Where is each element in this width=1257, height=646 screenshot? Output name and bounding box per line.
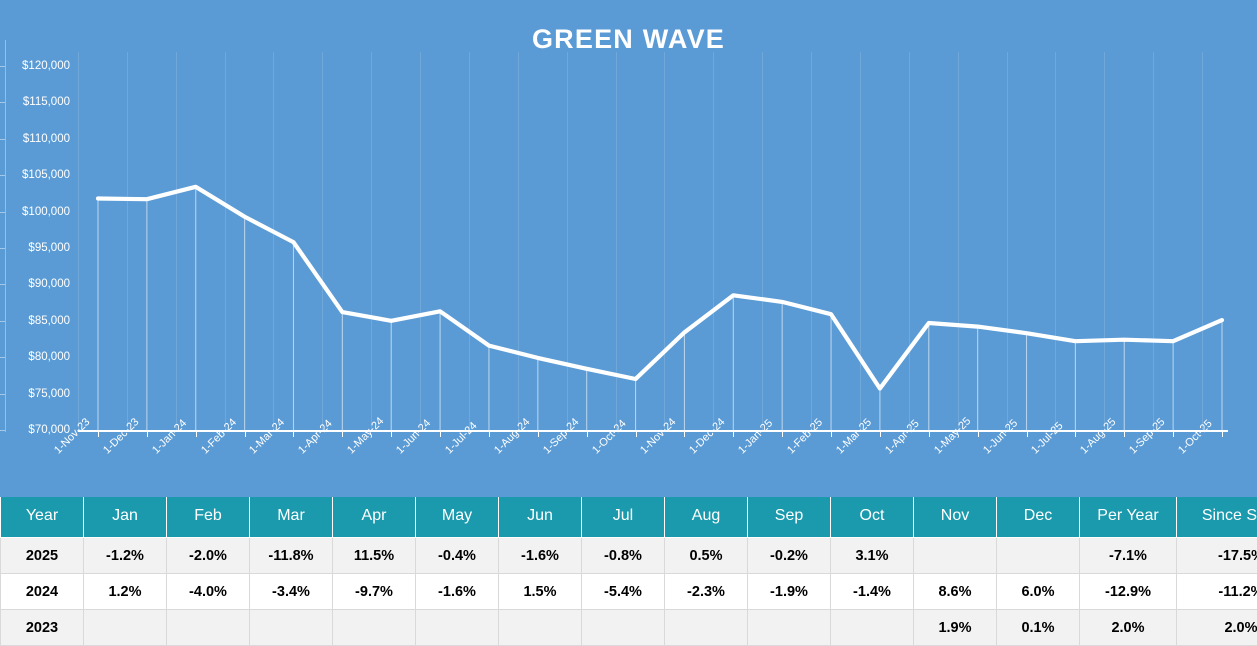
vertical-gridline <box>1007 52 1008 430</box>
vertical-gridline <box>664 52 665 430</box>
x-axis-tick-mark <box>733 430 734 437</box>
table-column-header[interactable]: Apr <box>333 495 416 538</box>
x-axis-tick-label: 1-Jul-24 <box>443 420 480 457</box>
table-column-header[interactable]: Year <box>1 495 84 538</box>
y-axis-tick-label: $95,000 <box>8 242 70 254</box>
x-axis-tick-label: 1-Feb-24 <box>199 416 239 456</box>
vertical-gridline <box>1055 52 1056 430</box>
table-cell-value: 8.6% <box>914 574 997 610</box>
table-cell-value: -9.7% <box>333 574 416 610</box>
vertical-gridline <box>616 52 617 430</box>
table-cell-value <box>582 610 665 646</box>
x-axis-tick-mark <box>1124 430 1125 437</box>
series-polyline <box>98 187 1222 389</box>
table-cell-value <box>748 610 831 646</box>
y-axis-tick-mark <box>0 321 5 322</box>
table-cell-value <box>333 610 416 646</box>
x-axis-tick-label: 1-Sep-25 <box>1127 416 1167 456</box>
y-axis-tick-label: $85,000 <box>8 315 70 327</box>
vertical-gridline <box>762 52 763 430</box>
y-axis-tick-label: $80,000 <box>8 351 70 363</box>
table-cell-value <box>665 610 748 646</box>
table-cell-value: -1.9% <box>748 574 831 610</box>
table-cell-value: -12.9% <box>1080 574 1177 610</box>
y-axis-tick-mark <box>0 248 5 249</box>
x-axis-tick-label: 1-Apr-25 <box>883 418 922 457</box>
table-cell-value <box>997 538 1080 574</box>
x-axis-tick-mark <box>147 430 148 437</box>
table-cell-value: 1.2% <box>84 574 167 610</box>
table-cell-value: -17.5% <box>1177 538 1257 574</box>
table-cell-value: -7.1% <box>1080 538 1177 574</box>
vertical-gridline <box>322 52 323 430</box>
x-axis-tick-label: 1-Oct-24 <box>590 418 629 457</box>
y-axis-tick-mark <box>0 139 5 140</box>
table-column-header[interactable]: Aug <box>665 495 748 538</box>
x-axis-tick-label: 1-Jul-25 <box>1029 420 1066 457</box>
table-cell-value: -2.3% <box>665 574 748 610</box>
table-cell-value: 0.1% <box>997 610 1080 646</box>
x-axis-tick-label: 1-Jun-25 <box>981 417 1020 456</box>
y-axis-tick-mark <box>0 212 5 213</box>
x-axis-tick-mark <box>929 430 930 437</box>
y-axis-tick-mark <box>0 102 5 103</box>
table-column-header[interactable]: Dec <box>997 495 1080 538</box>
x-axis-tick-mark <box>245 430 246 437</box>
table-cell-year: 2023 <box>1 610 84 646</box>
table-cell-value: -0.2% <box>748 538 831 574</box>
table-cell-value: 1.9% <box>914 610 997 646</box>
x-axis-tick-mark <box>196 430 197 437</box>
table-cell-value: -11.8% <box>250 538 333 574</box>
x-axis-tick-label: 1-May-25 <box>932 415 973 456</box>
x-axis-tick-mark <box>391 430 392 437</box>
x-axis-tick-mark <box>978 430 979 437</box>
y-axis-tick-label: $105,000 <box>8 169 70 181</box>
x-axis-tick-mark <box>684 430 685 437</box>
x-axis-tick-mark <box>538 430 539 437</box>
drop-lines <box>0 0 1257 494</box>
vertical-gridline <box>371 52 372 430</box>
y-axis-tick-label: $70,000 <box>8 424 70 436</box>
table-cell-value: 6.0% <box>997 574 1080 610</box>
x-axis-tick-mark <box>98 430 99 437</box>
x-axis-tick-mark <box>831 430 832 437</box>
x-axis-tick-label: 1-Aug-25 <box>1078 416 1118 456</box>
table-cell-value: 2.0% <box>1080 610 1177 646</box>
x-axis-tick-mark <box>1173 430 1174 437</box>
x-axis-tick-label: 1-Oct-25 <box>1176 418 1215 457</box>
x-axis-tick-label: 1-Jun-24 <box>394 417 433 456</box>
x-axis-tick-label: 1-Sep-24 <box>541 416 581 456</box>
vertical-gridline <box>225 52 226 430</box>
x-axis-tick-label: 1-Nov-24 <box>638 416 678 456</box>
x-axis-tick-mark <box>489 430 490 437</box>
table-column-header[interactable]: Nov <box>914 495 997 538</box>
table-cell-year: 2025 <box>1 538 84 574</box>
x-axis-tick-label: 1-Feb-25 <box>785 416 825 456</box>
x-axis-tick-mark <box>1075 430 1076 437</box>
vertical-gridline <box>713 52 714 430</box>
table-column-header[interactable]: May <box>416 495 499 538</box>
table-cell-value: -5.4% <box>582 574 665 610</box>
table-column-header[interactable]: Jan <box>84 495 167 538</box>
vertical-gridline <box>127 52 128 430</box>
table-cell-value: -3.4% <box>250 574 333 610</box>
x-axis-tick-label: 1-Dec-24 <box>687 416 727 456</box>
table-column-header[interactable]: Jun <box>499 495 582 538</box>
x-axis-tick-mark <box>587 430 588 437</box>
table-cell-value: 0.5% <box>665 538 748 574</box>
table-column-header[interactable]: Per Year <box>1080 495 1177 538</box>
vertical-gridline <box>958 52 959 430</box>
table-cell-value: 3.1% <box>831 538 914 574</box>
table-header-row: YearJanFebMarAprMayJunJulAugSepOctNovDec… <box>1 495 1257 538</box>
table-cell-value <box>831 610 914 646</box>
x-axis-tick-label: 1-Mar-25 <box>834 416 874 456</box>
x-axis-tick-label: 1-Aug-24 <box>492 416 532 456</box>
x-axis-tick-mark <box>782 430 783 437</box>
vertical-gridline <box>1153 52 1154 430</box>
y-axis-tick-mark <box>0 66 5 67</box>
x-axis-tick-mark <box>1222 430 1223 437</box>
table-cell-value <box>84 610 167 646</box>
table-cell-value: -1.4% <box>831 574 914 610</box>
vertical-gridline <box>909 52 910 430</box>
table-top-divider <box>0 494 1257 497</box>
y-axis-tick-mark <box>0 430 5 431</box>
x-axis-tick-label: 1-Dec-23 <box>101 416 141 456</box>
table-cell-value <box>250 610 333 646</box>
plot-area: $120,000$115,000$110,000$105,000$100,000… <box>0 0 1257 494</box>
y-axis-tick-label: $110,000 <box>8 133 70 145</box>
table-cell-value: -0.8% <box>582 538 665 574</box>
y-axis-tick-label: $75,000 <box>8 388 70 400</box>
performance-table: YearJanFebMarAprMayJunJulAugSepOctNovDec… <box>0 494 1257 646</box>
x-axis-tick-mark <box>1027 430 1028 437</box>
vertical-gridline <box>860 52 861 430</box>
x-axis-tick-label: 1-May-24 <box>345 415 386 456</box>
table-cell-value <box>499 610 582 646</box>
x-axis-tick-mark <box>636 430 637 437</box>
vertical-gridline <box>567 52 568 430</box>
table-cell-value: -11.2% <box>1177 574 1257 610</box>
vertical-gridline <box>420 52 421 430</box>
vertical-gridline <box>469 52 470 430</box>
vertical-gridline <box>273 52 274 430</box>
table-cell-value <box>914 538 997 574</box>
table-cell-value: -4.0% <box>167 574 250 610</box>
table-cell-value: -1.6% <box>499 538 582 574</box>
table-cell-value <box>167 610 250 646</box>
x-axis-tick-label: 1-Nov-23 <box>52 416 92 456</box>
x-axis-tick-mark <box>342 430 343 437</box>
y-axis-tick-label: $120,000 <box>8 60 70 72</box>
y-axis-tick-label: $100,000 <box>8 206 70 218</box>
table-column-header[interactable]: Sep <box>748 495 831 538</box>
table-column-header[interactable]: Oct <box>831 495 914 538</box>
table-row: 2025-1.2%-2.0%-11.8%11.5%-0.4%-1.6%-0.8%… <box>1 538 1257 574</box>
x-axis-tick-mark <box>440 430 441 437</box>
table-column-header[interactable]: Jul <box>582 495 665 538</box>
y-axis-tick-label: $90,000 <box>8 278 70 290</box>
table-cell-value: -2.0% <box>167 538 250 574</box>
x-axis-tick-mark <box>880 430 881 437</box>
table-cell-value: -1.2% <box>84 538 167 574</box>
vertical-gridline <box>78 52 79 430</box>
table-cell-value: 2.0% <box>1177 610 1257 646</box>
x-axis-tick-label: 1-Jan-24 <box>150 417 189 456</box>
y-axis-tick-mark <box>0 394 5 395</box>
y-axis-tick-mark <box>0 175 5 176</box>
vertical-gridline <box>1104 52 1105 430</box>
vertical-gridline <box>176 52 177 430</box>
table-column-header[interactable]: Since Start <box>1177 495 1257 538</box>
vertical-gridline <box>811 52 812 430</box>
y-axis-line <box>5 40 6 432</box>
x-axis-tick-mark <box>293 430 294 437</box>
table-row: 20241.2%-4.0%-3.4%-9.7%-1.6%1.5%-5.4%-2.… <box>1 574 1257 610</box>
chart-panel: GREEN WAVE $120,000$115,000$110,000$105,… <box>0 0 1257 494</box>
table-cell-value: -0.4% <box>416 538 499 574</box>
y-axis-tick-label: $115,000 <box>8 96 70 108</box>
table-cell-value <box>416 610 499 646</box>
table-column-header[interactable]: Mar <box>250 495 333 538</box>
data-line-series <box>0 0 1257 494</box>
y-axis-tick-mark <box>0 357 5 358</box>
vertical-gridline <box>1202 52 1203 430</box>
table-row: 20231.9%0.1%2.0%2.0% <box>1 610 1257 646</box>
table-column-header[interactable]: Feb <box>167 495 250 538</box>
table-cell-value: 1.5% <box>499 574 582 610</box>
vertical-gridline <box>518 52 519 430</box>
chart-page: GREEN WAVE $120,000$115,000$110,000$105,… <box>0 0 1257 642</box>
x-axis-tick-label: 1-Jan-25 <box>736 417 775 456</box>
table-cell-year: 2024 <box>1 574 84 610</box>
performance-table-wrapper: YearJanFebMarAprMayJunJulAugSepOctNovDec… <box>0 494 1257 642</box>
table-cell-value: 11.5% <box>333 538 416 574</box>
y-axis-tick-mark <box>0 284 5 285</box>
x-axis-tick-label: 1-Mar-24 <box>247 416 287 456</box>
table-cell-value: -1.6% <box>416 574 499 610</box>
x-axis-tick-label: 1-Apr-24 <box>296 418 335 457</box>
table-body: 2025-1.2%-2.0%-11.8%11.5%-0.4%-1.6%-0.8%… <box>1 538 1257 646</box>
